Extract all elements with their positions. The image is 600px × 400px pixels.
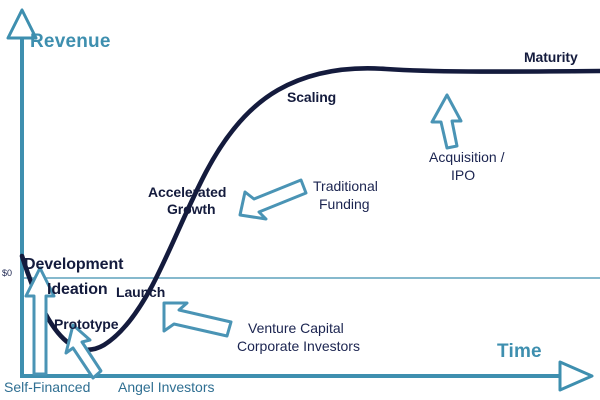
stage-label-launch: Launch xyxy=(116,284,165,300)
stage-label-ideation: Ideation xyxy=(47,281,108,299)
stage-label-maturity: Maturity xyxy=(524,49,578,65)
stage-label-scaling: Scaling xyxy=(287,89,336,105)
annotation-venture-capital-line1: Venture Capital xyxy=(248,320,344,336)
x-axis-arrowhead xyxy=(560,362,592,390)
traditional-funding-arrow-icon xyxy=(240,180,306,219)
annotation-traditional-funding-line2: Funding xyxy=(319,196,370,212)
annotation-acquisition-ipo-line1: Acquisition / xyxy=(429,149,504,165)
stage-label-accelerated-growth-line1: Accelerated xyxy=(148,184,226,200)
annotation-acquisition-ipo-line2: IPO xyxy=(451,167,475,183)
stage-label-development: Development xyxy=(24,256,123,274)
annotation-angel-investors: Angel Investors xyxy=(118,379,215,395)
angel-investors-arrow-icon xyxy=(66,325,101,378)
annotation-venture-capital-line2: Corporate Investors xyxy=(237,338,360,354)
y-axis-title: Revenue xyxy=(30,31,111,53)
zero-tick-label: $0 xyxy=(2,268,12,278)
acquisition-ipo-arrow-icon xyxy=(432,95,461,148)
diagram-canvas: Revenue Time $0 Development Ideation Pro… xyxy=(0,0,600,400)
stage-label-accelerated-growth-line2: Growth xyxy=(167,201,215,217)
annotation-traditional-funding-line1: Traditional xyxy=(313,178,378,194)
annotation-self-financed: Self-Financed xyxy=(4,379,90,395)
x-axis-title: Time xyxy=(497,341,542,363)
revenue-s-curve xyxy=(22,68,600,349)
stage-label-prototype: Prototype xyxy=(54,316,118,332)
venture-capital-arrow-icon xyxy=(164,303,231,336)
